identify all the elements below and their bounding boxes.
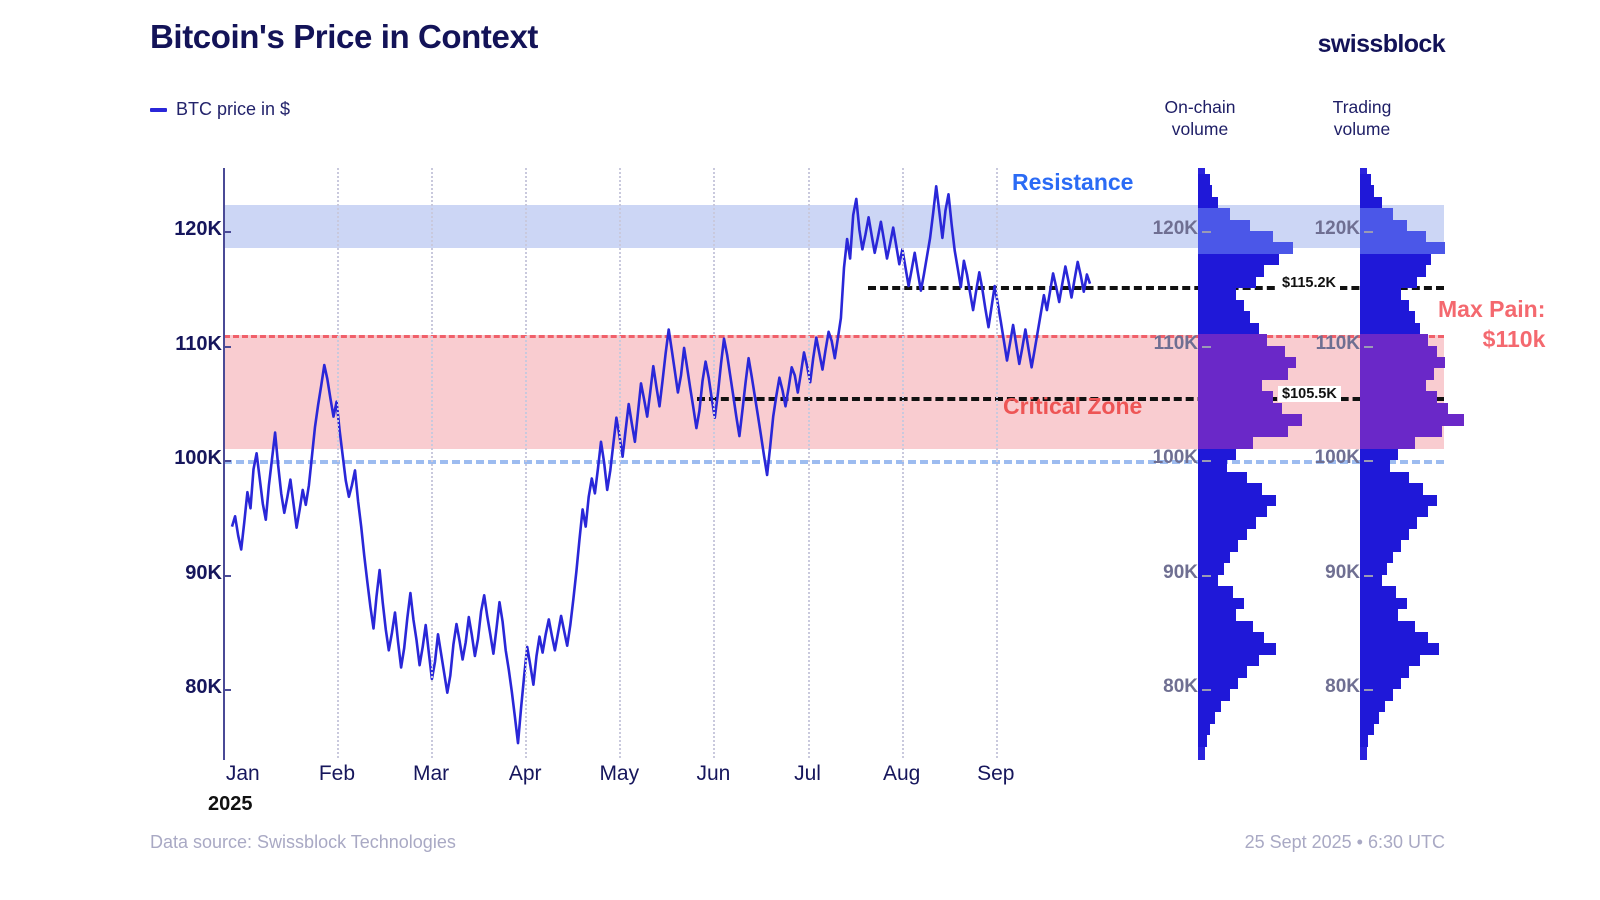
volume-bar xyxy=(1360,334,1428,345)
volume-bar xyxy=(1360,288,1401,299)
volume-bar xyxy=(1198,391,1273,402)
volume-bar xyxy=(1360,254,1431,265)
volume-bar xyxy=(1198,265,1264,276)
volume-bar xyxy=(1198,540,1238,551)
volume-bar xyxy=(1198,701,1221,712)
volume-y-tick-mark xyxy=(1202,346,1211,348)
volume-bar xyxy=(1360,621,1415,632)
x-tick-label: Jul xyxy=(794,762,821,786)
volume-bar xyxy=(1198,368,1288,379)
volume-bar xyxy=(1360,632,1428,643)
volume-bar xyxy=(1360,311,1415,322)
volume-bar xyxy=(1360,220,1407,231)
volume-bar xyxy=(1360,655,1420,666)
volume-bar xyxy=(1360,323,1420,334)
volume-bar xyxy=(1360,472,1409,483)
volume-bar xyxy=(1198,242,1293,253)
volume-bar xyxy=(1198,609,1236,620)
volume-bar xyxy=(1360,517,1417,528)
trading-volume-title-line1: Trading xyxy=(1282,96,1442,118)
volume-y-tick-mark xyxy=(1364,460,1373,462)
grid-line xyxy=(619,168,621,758)
volume-y-tick-label: 100K xyxy=(1118,447,1198,469)
volume-bar xyxy=(1198,300,1244,311)
volume-bar xyxy=(1198,208,1230,219)
volume-bar xyxy=(1360,368,1434,379)
volume-bar xyxy=(1360,357,1445,368)
volume-bar xyxy=(1198,288,1236,299)
volume-bar xyxy=(1198,357,1296,368)
volume-bar xyxy=(1360,403,1448,414)
price-polyline xyxy=(232,186,1090,743)
volume-y-tick-mark xyxy=(1364,231,1373,233)
volume-bar xyxy=(1360,185,1374,196)
x-tick-label: Apr xyxy=(509,762,542,786)
volume-y-tick-mark xyxy=(1364,689,1373,691)
volume-bar xyxy=(1198,655,1259,666)
volume-bar xyxy=(1198,632,1264,643)
onchain-volume-title: On-chain volume xyxy=(1120,96,1280,140)
grid-line xyxy=(337,168,339,758)
volume-bar xyxy=(1360,609,1398,620)
volume-bar xyxy=(1198,563,1224,574)
x-tick-label: May xyxy=(599,762,639,786)
volume-bar xyxy=(1198,323,1259,334)
max-pain-annotation: Max Pain: $110k xyxy=(1438,294,1545,354)
volume-bar xyxy=(1198,311,1250,322)
volume-bar xyxy=(1360,540,1401,551)
volume-bar xyxy=(1198,380,1262,391)
volume-bar xyxy=(1360,242,1445,253)
y-tick-label: 80K xyxy=(185,676,222,699)
chart-canvas: Bitcoin's Price in Context swissblock BT… xyxy=(0,0,1600,900)
volume-bar xyxy=(1360,265,1426,276)
volume-y-tick-label: 90K xyxy=(1118,562,1198,584)
volume-bar xyxy=(1198,254,1279,265)
y-tick-label: 100K xyxy=(174,447,222,470)
volume-bar xyxy=(1198,621,1253,632)
legend-label: BTC price in $ xyxy=(176,99,290,120)
volume-bar xyxy=(1360,483,1423,494)
onchain-volume-title-line2: volume xyxy=(1120,118,1280,140)
volume-bar xyxy=(1360,208,1393,219)
volume-y-tick-label: 110K xyxy=(1118,333,1198,355)
volume-bar xyxy=(1198,403,1282,414)
x-tick-label: Feb xyxy=(319,762,355,786)
volume-bar xyxy=(1198,414,1302,425)
trading-volume-title: Trading volume xyxy=(1282,96,1442,140)
volume-bar xyxy=(1198,666,1247,677)
x-tick-label: Sep xyxy=(977,762,1014,786)
upper-level-price-tag: $115.2K xyxy=(1278,275,1340,291)
volume-bar xyxy=(1198,220,1250,231)
critical-zone-annotation: Critical Zone xyxy=(1003,393,1142,420)
volume-bar xyxy=(1360,437,1415,448)
volume-bar xyxy=(1360,712,1379,723)
volume-y-tick-label: 110K xyxy=(1280,333,1360,355)
volume-bar xyxy=(1198,174,1210,185)
trading-volume-profile xyxy=(1360,168,1470,760)
btc-price-line xyxy=(224,168,1104,758)
volume-bar xyxy=(1198,483,1262,494)
y-tick-label: 110K xyxy=(175,333,222,356)
x-tick-label: Aug xyxy=(883,762,920,786)
volume-bar xyxy=(1360,414,1464,425)
volume-bar xyxy=(1198,517,1256,528)
volume-bar xyxy=(1360,197,1382,208)
legend-swatch-icon xyxy=(150,108,167,112)
volume-bar xyxy=(1198,643,1276,654)
volume-bar xyxy=(1198,495,1276,506)
max-pain-line1: Max Pain: xyxy=(1438,294,1545,324)
volume-y-tick-label: 120K xyxy=(1280,218,1360,240)
volume-bar xyxy=(1198,735,1207,746)
volume-y-tick-label: 90K xyxy=(1280,562,1360,584)
volume-y-tick-mark xyxy=(1202,689,1211,691)
grid-line xyxy=(713,168,715,758)
volume-y-tick-label: 100K xyxy=(1280,447,1360,469)
y-tick-label: 90K xyxy=(185,562,222,585)
volume-bar xyxy=(1360,552,1393,563)
volume-bar xyxy=(1198,586,1233,597)
x-tick-label: Jun xyxy=(696,762,730,786)
volume-bar xyxy=(1198,449,1236,460)
grid-line xyxy=(431,168,433,758)
volume-bar xyxy=(1360,495,1437,506)
volume-y-tick-mark xyxy=(1202,231,1211,233)
volume-bar xyxy=(1198,529,1247,540)
volume-bar xyxy=(1360,506,1428,517)
x-tick-label: Jan xyxy=(226,762,260,786)
volume-bar xyxy=(1360,666,1409,677)
data-source-text: Data source: Swissblock Technologies xyxy=(150,832,456,853)
volume-bar xyxy=(1360,586,1396,597)
volume-bar xyxy=(1198,678,1238,689)
volume-bar xyxy=(1198,598,1244,609)
volume-bar xyxy=(1360,701,1385,712)
volume-y-tick-mark xyxy=(1364,346,1373,348)
x-axis-year-label: 2025 xyxy=(208,793,253,816)
max-pain-line2: $110k xyxy=(1438,324,1545,354)
resistance-annotation: Resistance xyxy=(1012,169,1133,196)
volume-y-tick-mark xyxy=(1202,575,1211,577)
price-series-plot xyxy=(224,168,1104,758)
legend: BTC price in $ xyxy=(150,99,290,120)
y-tick-label: 120K xyxy=(174,218,222,241)
volume-bar xyxy=(1198,277,1256,288)
timestamp-text: 25 Sept 2025 • 6:30 UTC xyxy=(1245,832,1445,853)
volume-bar xyxy=(1198,185,1212,196)
page-title: Bitcoin's Price in Context xyxy=(150,18,538,56)
x-tick-label: Mar xyxy=(413,762,449,786)
volume-bar xyxy=(1198,426,1288,437)
volume-bar xyxy=(1360,300,1409,311)
volume-bar xyxy=(1360,678,1401,689)
volume-bar xyxy=(1198,712,1215,723)
volume-bar xyxy=(1360,380,1426,391)
grid-line xyxy=(808,168,810,758)
volume-bar xyxy=(1198,197,1218,208)
onchain-volume-title-line1: On-chain xyxy=(1120,96,1280,118)
brand-logo: swissblock xyxy=(1318,30,1445,59)
volume-bar xyxy=(1360,724,1374,735)
trading-volume-title-line2: volume xyxy=(1282,118,1442,140)
volume-bar xyxy=(1198,506,1267,517)
volume-y-tick-label: 120K xyxy=(1118,218,1198,240)
volume-bar xyxy=(1198,472,1247,483)
volume-bar xyxy=(1360,735,1368,746)
volume-bar xyxy=(1360,449,1398,460)
volume-y-tick-mark xyxy=(1364,575,1373,577)
grid-line xyxy=(902,168,904,758)
grid-line xyxy=(996,168,998,758)
lower-level-price-tag: $105.5K xyxy=(1278,386,1341,402)
volume-bar xyxy=(1360,277,1417,288)
volume-bar xyxy=(1360,391,1437,402)
volume-bar xyxy=(1198,334,1267,345)
grid-line xyxy=(525,168,527,758)
volume-bar xyxy=(1198,552,1230,563)
volume-bar xyxy=(1360,529,1409,540)
volume-y-tick-mark xyxy=(1202,460,1211,462)
volume-bar xyxy=(1360,174,1371,185)
volume-bar xyxy=(1198,437,1253,448)
volume-y-tick-label: 80K xyxy=(1118,676,1198,698)
volume-bar xyxy=(1360,598,1407,609)
volume-bar xyxy=(1360,643,1439,654)
volume-bar xyxy=(1360,563,1387,574)
volume-bar xyxy=(1198,724,1210,735)
volume-y-tick-label: 80K xyxy=(1280,676,1360,698)
volume-bar xyxy=(1360,426,1442,437)
